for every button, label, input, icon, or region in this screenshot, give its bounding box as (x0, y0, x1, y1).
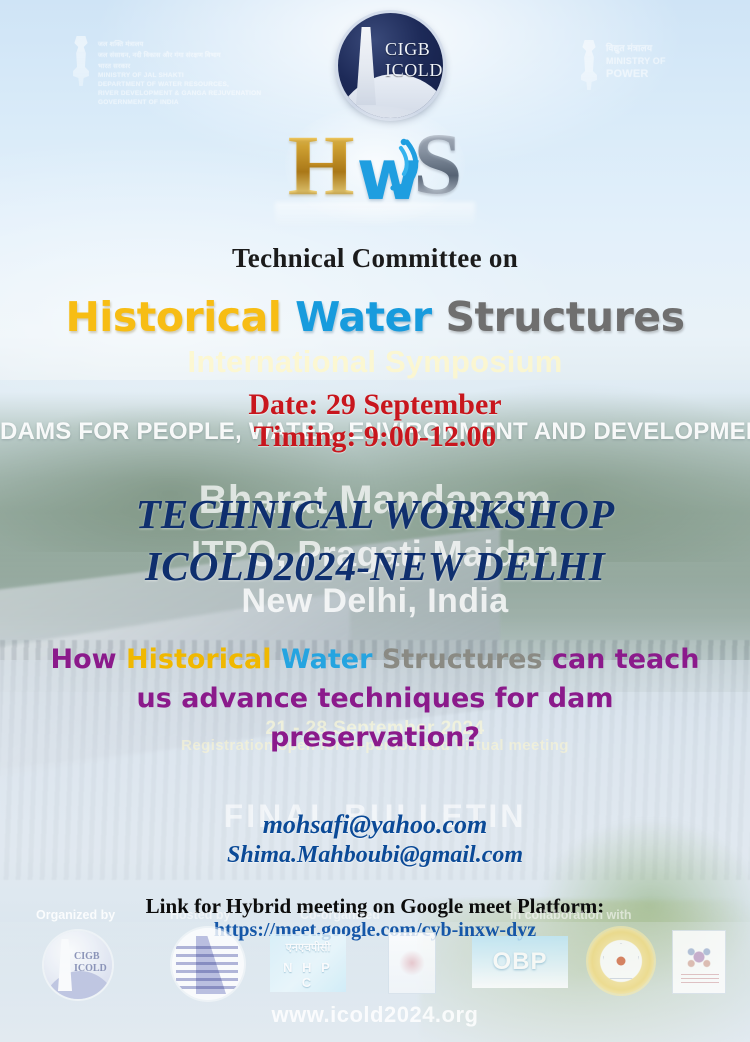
event-date: Date: 29 September (0, 388, 750, 422)
emblem-right-line-1: MINISTRY OF (606, 56, 666, 67)
icold-logo-text: CIGB ICOLD (385, 39, 443, 81)
partner-logo-crest (672, 930, 726, 994)
label-co-organized: Co-organized (300, 908, 380, 922)
emblem-left-line-2: जल संसाधन, नदी विकास और गंगा संरक्षण विभ… (98, 50, 261, 59)
label-in-collaboration-with: In collaboration with (510, 908, 632, 922)
label-organized-by: Organized by (36, 908, 115, 922)
hws-letter-w: w (357, 140, 418, 210)
partner-logo-white-card (388, 932, 436, 994)
workshop-title-line-2: ICOLD2024-NEW DELHI (0, 542, 750, 590)
white-card-mark-icon (399, 950, 425, 976)
ministry-of-power-emblem: विद्युत मंत्रालय MINISTRY OF POWER (578, 40, 666, 90)
crest-mark-icon (686, 944, 712, 970)
question-line-2: us advance techniques for dam (0, 679, 750, 718)
emblem-left-text-block: जल शक्ति मंत्रालय जल संसाधन, नदी विकास औ… (98, 36, 261, 106)
title-word-water: Water (295, 293, 445, 341)
workshop-question: How Historical Water Structures can teac… (0, 640, 750, 757)
partner-logo-obp: OBP (472, 936, 568, 988)
partner-logo-gold-seal (588, 928, 654, 994)
partner-icold-line-2: ICOLD (74, 963, 107, 975)
icold-mini-arc-icon (44, 971, 112, 999)
icold-dam-icon (356, 27, 376, 105)
emblem-left-line-7: GOVERNMENT OF INDIA (98, 99, 261, 106)
question-word-how: How (51, 644, 127, 675)
event-timing: Timing: 9:00-12.00 (0, 420, 750, 454)
emblem-left-line-4: MINISTRY OF JAL SHAKTI (98, 72, 261, 79)
hws-logo-reflection (275, 202, 475, 228)
partner-nhpc-hindi: एनएचपीसी (276, 940, 340, 955)
question-line-3: preservation? (0, 718, 750, 757)
icold-logo-line-2: ICOLD (385, 60, 443, 81)
question-line-1: How Historical Water Structures can teac… (0, 640, 750, 679)
question-word-historical: Historical (126, 644, 281, 675)
question-word-water: Water (281, 644, 382, 675)
ashoka-emblem-icon (578, 40, 600, 90)
icold-logo-line-1: CIGB (385, 39, 443, 60)
workshop-title-line-1: TECHNICAL WORKSHOP (0, 490, 750, 538)
crest-base-icon (681, 974, 719, 984)
poster-root: International Symposium DAMS FOR PEOPLE,… (0, 0, 750, 1042)
technical-committee-label: Technical Committee on (0, 243, 750, 274)
hws-letter-h: H (288, 122, 357, 208)
hws-letter-s: S (413, 121, 462, 209)
emblem-left-line-1: जल शक्ति मंत्रालय (98, 39, 261, 48)
cigb-icold-logo: CIGB ICOLD (338, 13, 443, 118)
emblem-right-hindi: विद्युत मंत्रालय (606, 43, 666, 54)
emblem-left-line-5: DEPARTMENT OF WATER RESOURCES, (98, 81, 261, 88)
page-title: Historical Water Structures (0, 293, 750, 341)
partner-logo-nhpc: एनएचपीसी N H P C (270, 934, 346, 992)
question-word-canteach: can teach (552, 644, 700, 675)
title-word-historical: Historical (65, 293, 295, 341)
partner-nhpc-english: N H P C (276, 960, 340, 990)
partner-obp-text: OBP (492, 948, 547, 976)
emblem-left-line-3: भारत सरकार (98, 61, 261, 70)
label-hosted-by: Hosted by (170, 908, 230, 922)
ashoka-emblem-icon (70, 36, 92, 86)
contact-email-2[interactable]: Shima.Mahboubi@gmail.com (0, 842, 750, 869)
hws-logo: H w S (0, 116, 750, 214)
contact-email-1[interactable]: mohsafi@yahoo.com (0, 810, 750, 840)
partner-logo-host-dam (172, 928, 244, 1000)
title-word-structures: Structures (445, 293, 684, 341)
watermark-symposium: International Symposium (0, 344, 750, 380)
icold-mini-dam-icon (58, 939, 72, 991)
ministry-jal-shakti-emblem: जल शक्ति मंत्रालय जल संसाधन, नदी विकास औ… (70, 36, 261, 106)
gold-seal-center-dot-icon (617, 957, 626, 966)
partner-icold-line-1: CIGB (74, 951, 107, 963)
emblem-left-line-6: RIVER DEVELOPMENT & GANGA REJUVENATION (98, 90, 261, 97)
partner-logo-icold-text: CIGB ICOLD (74, 951, 107, 975)
question-word-structures: Structures (382, 644, 552, 675)
host-dam-lines-icon (176, 946, 238, 990)
emblem-right-text-block: विद्युत मंत्रालय MINISTRY OF POWER (606, 40, 666, 80)
partner-logo-strip: Organized by Hosted by Co-organized In c… (0, 898, 750, 1008)
emblem-right-line-2: POWER (606, 69, 666, 80)
partner-logo-icold: CIGB ICOLD (44, 931, 112, 999)
hws-logo-letters: H w S (288, 121, 463, 209)
